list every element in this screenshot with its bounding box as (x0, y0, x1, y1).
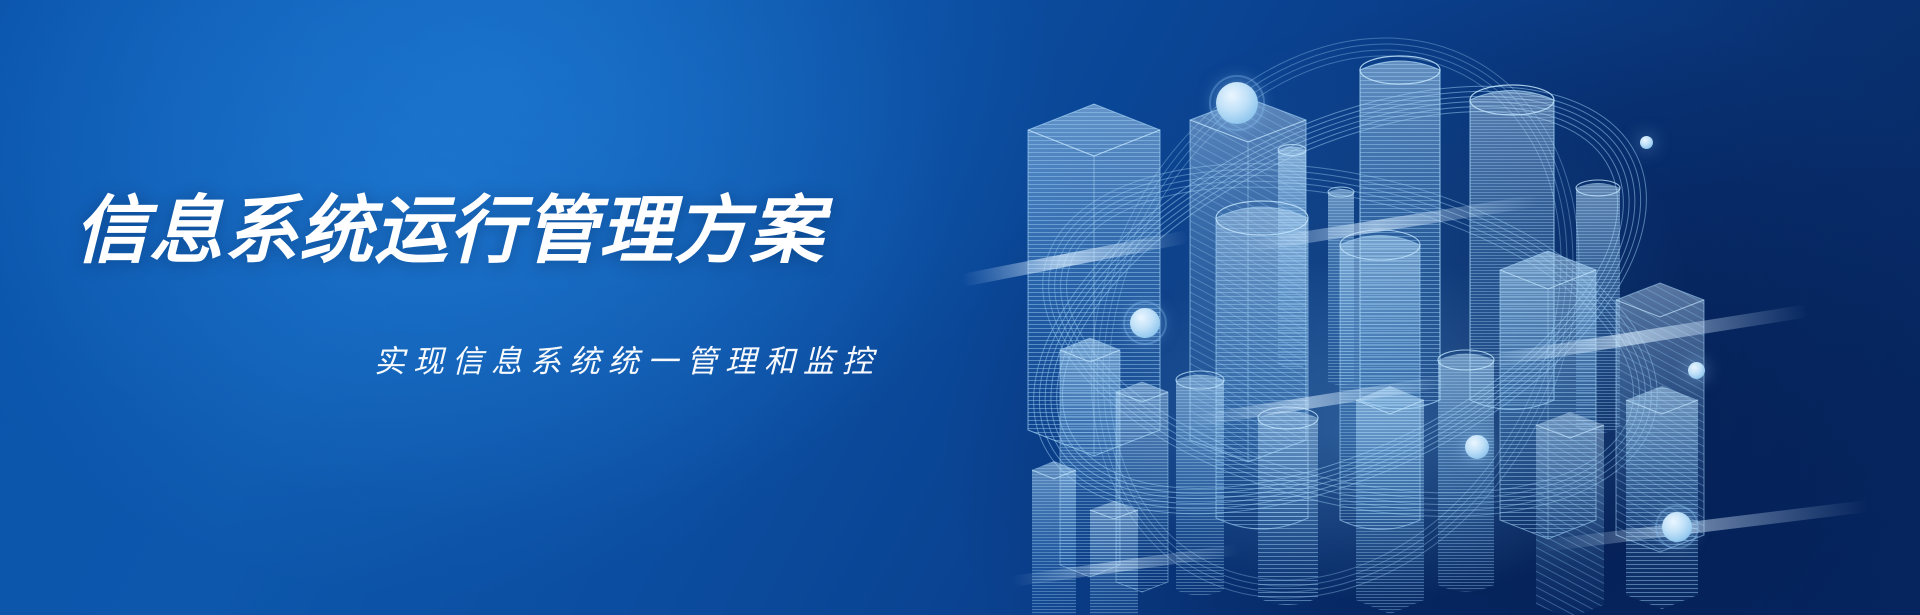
building-rounded-mid (1340, 230, 1420, 530)
building-block-far-right (1616, 283, 1704, 552)
light-streaks (961, 195, 1870, 587)
building-block-right (1500, 251, 1596, 539)
glow-dot-top-left (1216, 82, 1258, 124)
building-block-left (1028, 104, 1160, 456)
building-front-far-right (1626, 386, 1698, 609)
banner: 信息系统运行管理方案 实现信息系统统一管理和监控 (0, 0, 1920, 615)
building-cylinder-tall-right (1360, 56, 1440, 409)
building-front-small-b (1090, 501, 1138, 615)
background-glow-city (1020, 20, 1740, 615)
banner-title: 信息系统运行管理方案 (74, 192, 824, 270)
orbital-rings (967, 0, 1714, 615)
building-cylinder-rightmost (1470, 85, 1554, 410)
background-glow-right (900, 0, 1920, 615)
glow-dot-far-right (1640, 136, 1653, 149)
buildings-front (1032, 338, 1698, 615)
building-front-cylinder-2 (1438, 350, 1494, 592)
glow-dot-bottom (1662, 512, 1692, 542)
building-cylinder-slim-2 (1328, 187, 1354, 385)
building-front-slab (1356, 386, 1424, 614)
building-front-left-b (1116, 382, 1168, 592)
building-front-small-a (1032, 461, 1076, 615)
building-front-left-a (1060, 338, 1120, 577)
glow-dot-left-mid (1130, 308, 1160, 338)
buildings-back (1028, 56, 1620, 462)
city-floor-glow (1040, 260, 1700, 600)
city-illustration (940, 0, 1920, 615)
building-front-cylinder (1176, 371, 1224, 596)
buildings-mid (1216, 201, 1704, 552)
building-front-rounded (1258, 407, 1318, 605)
building-front-right-slab (1536, 412, 1604, 615)
banner-text-block: 信息系统运行管理方案 实现信息系统统一管理和监控 (0, 0, 1000, 615)
glow-dot-lower-left (1465, 435, 1489, 459)
building-rounded-center (1216, 201, 1308, 529)
building-cylinder-right-slim (1576, 180, 1620, 433)
banner-subtitle: 实现信息系统统一管理和监控 (374, 336, 881, 381)
building-tower-center (1190, 98, 1306, 462)
glow-dot-small-right (1688, 362, 1705, 379)
building-cylinder-slim (1278, 145, 1306, 369)
